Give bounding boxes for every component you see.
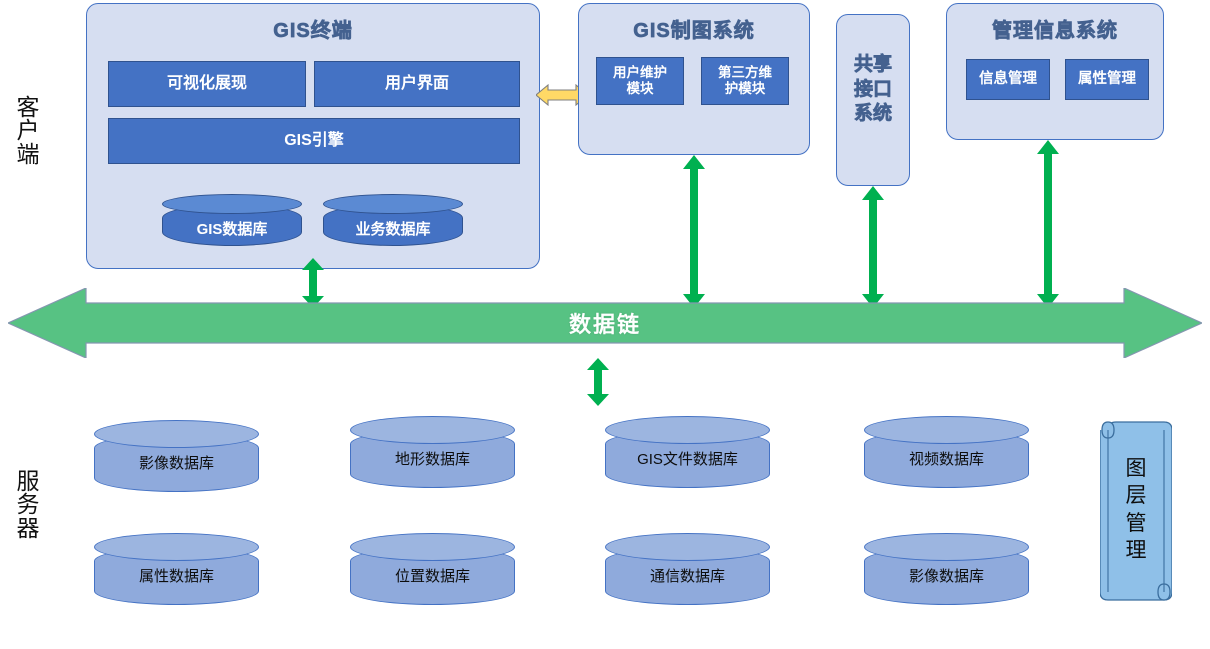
cylinder-image-database-2[interactable]: 影像数据库 [864, 533, 1029, 605]
cylinder-attribute-database[interactable]: 属性数据库 [94, 533, 259, 605]
cylinder-gis-database[interactable]: GIS数据库 [162, 194, 302, 246]
cylinder-gis-file-database[interactable]: GIS文件数据库 [605, 416, 770, 488]
panel-gis-mapping-system-title: GIS制图系统 [579, 14, 809, 43]
share-interface-row-2: 接口 [837, 78, 909, 103]
tier-label-client-char-2: 户 [10, 119, 46, 142]
tier-label-client-char-1: 客 [10, 96, 46, 119]
connector-mapping-to-datalink [681, 155, 707, 308]
cylinder-position-database[interactable]: 位置数据库 [350, 533, 515, 605]
module-user-interface[interactable]: 用户界面 [314, 61, 520, 107]
tier-label-client-char-3: 端 [10, 143, 46, 166]
cylinder-label: GIS数据库 [162, 218, 302, 239]
cylinder-top [94, 420, 259, 448]
connector-datalink-to-servers [585, 358, 611, 406]
tier-label-server-char-3: 器 [10, 517, 46, 540]
cylinder-top [605, 533, 770, 561]
cylinder-communication-database[interactable]: 通信数据库 [605, 533, 770, 605]
cylinder-top [864, 416, 1029, 444]
cylinder-top [350, 416, 515, 444]
share-interface-row-3: 系统 [837, 102, 909, 127]
cylinder-label: 位置数据库 [350, 565, 515, 586]
module-info-management[interactable]: 信息管理 [966, 59, 1050, 100]
module-third-party-maintenance[interactable]: 第三方维 护模块 [701, 57, 789, 105]
layer-manager-char-2: 层 [1100, 482, 1172, 509]
module-gis-engine[interactable]: GIS引擎 [108, 118, 520, 164]
module-user-maintenance[interactable]: 用户维护 模块 [596, 57, 684, 105]
panel-management-info-system-title: 管理信息系统 [947, 14, 1163, 43]
cylinder-label: 通信数据库 [605, 565, 770, 586]
cylinder-label: 影像数据库 [864, 565, 1029, 586]
cylinder-top [162, 194, 302, 214]
architecture-diagram: 客 户 端 服 务 器 GIS终端 可视化展现 用户界面 GIS引擎 GIS数据… [0, 0, 1210, 649]
tier-label-server-char-2: 务 [10, 493, 46, 516]
layer-manager-scroll[interactable]: 图 层 管 理 [1100, 418, 1172, 604]
connector-management-to-datalink [1035, 140, 1061, 308]
datalink-label: 数据链 [569, 307, 641, 339]
cylinder-top [350, 533, 515, 561]
layer-manager-char-1: 图 [1100, 455, 1172, 482]
cylinder-image-database[interactable]: 影像数据库 [94, 420, 259, 492]
tier-label-client: 客 户 端 [10, 96, 46, 166]
panel-gis-mapping-system[interactable]: GIS制图系统 用户维护 模块 第三方维 护模块 [578, 3, 810, 155]
cylinder-top [94, 533, 259, 561]
panel-gis-terminal-title: GIS终端 [87, 14, 539, 43]
cylinder-label: 影像数据库 [94, 452, 259, 473]
cylinder-label: 业务数据库 [323, 218, 463, 239]
panel-share-interface-system[interactable]: 共享 接口 系统 [836, 14, 910, 186]
cylinder-label: 地形数据库 [350, 448, 515, 469]
module-attribute-management[interactable]: 属性管理 [1065, 59, 1149, 100]
cylinder-top [864, 533, 1029, 561]
cylinder-label: GIS文件数据库 [605, 448, 770, 469]
module-visualization[interactable]: 可视化展现 [108, 61, 306, 107]
layer-manager-label: 图 层 管 理 [1100, 455, 1172, 564]
layer-manager-char-3: 管 [1100, 510, 1172, 537]
tier-label-server: 服 务 器 [10, 470, 46, 540]
panel-gis-terminal[interactable]: GIS终端 可视化展现 用户界面 GIS引擎 GIS数据库 业务数据库 [86, 3, 540, 269]
cylinder-top [323, 194, 463, 214]
share-interface-row-1: 共享 [837, 53, 909, 78]
panel-share-interface-system-title: 共享 接口 系统 [837, 53, 909, 127]
cylinder-top [605, 416, 770, 444]
cylinder-label: 视频数据库 [864, 448, 1029, 469]
layer-manager-char-4: 理 [1100, 537, 1172, 564]
tier-label-server-char-1: 服 [10, 470, 46, 493]
datalink-bar[interactable]: 数据链 [8, 288, 1202, 358]
panel-management-info-system[interactable]: 管理信息系统 信息管理 属性管理 [946, 3, 1164, 140]
cylinder-business-database[interactable]: 业务数据库 [323, 194, 463, 246]
cylinder-video-database[interactable]: 视频数据库 [864, 416, 1029, 488]
cylinder-terrain-database[interactable]: 地形数据库 [350, 416, 515, 488]
cylinder-label: 属性数据库 [94, 565, 259, 586]
